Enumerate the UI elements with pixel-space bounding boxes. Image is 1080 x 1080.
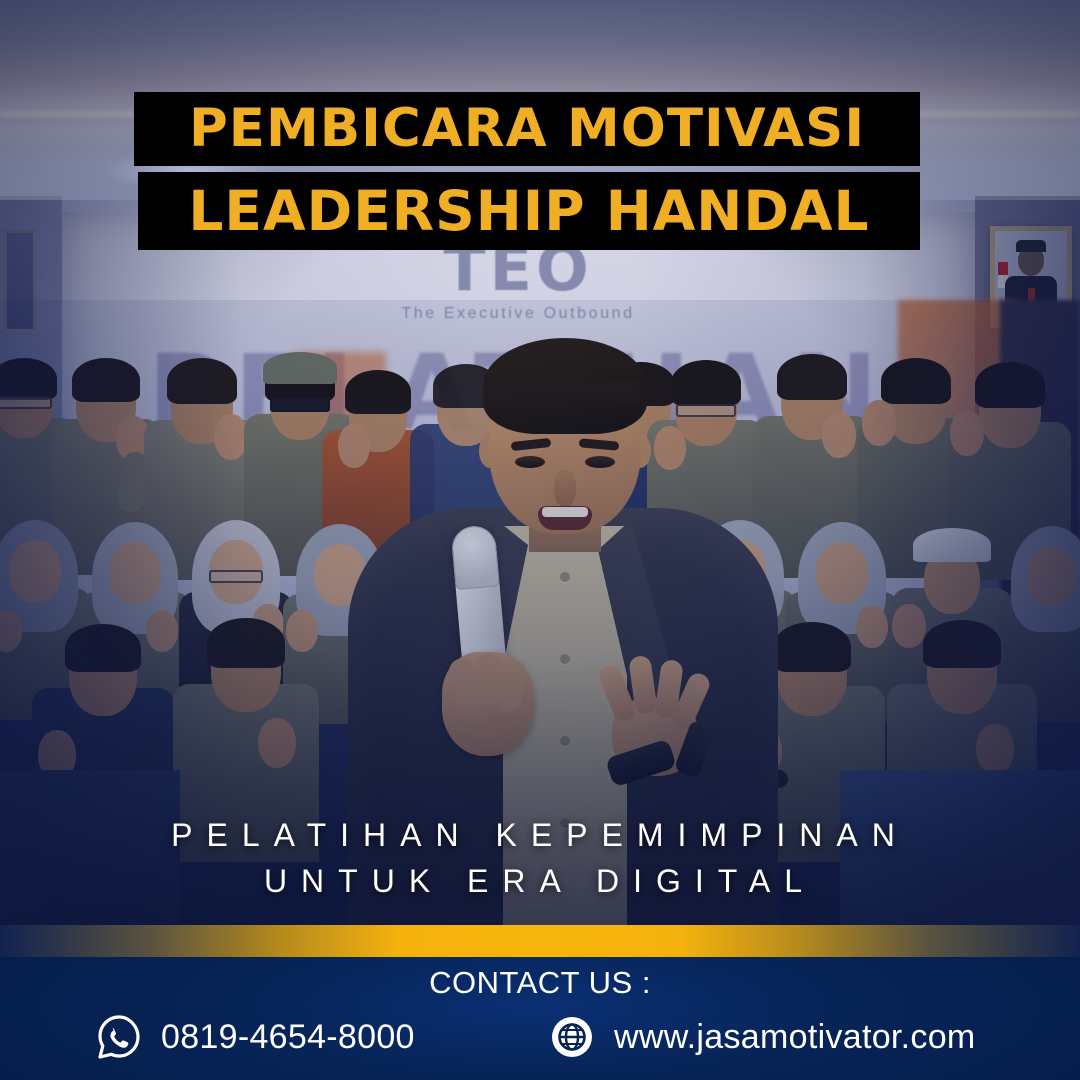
headline-line-1: PEMBICARA MOTIVASI	[134, 92, 920, 166]
contact-item-phone[interactable]: 0819-4654-8000	[95, 1013, 415, 1061]
subtitle: PELATIHAN KEPEMIMPINAN UNTUK ERA DIGITAL	[0, 812, 1080, 904]
subtitle-line-2: UNTUK ERA DIGITAL	[0, 858, 1080, 904]
poster: TEO The Executive Outbound PELATIHAN	[0, 0, 1080, 1080]
gold-divider-bar	[0, 925, 1080, 957]
contact-phone-label: 0819-4654-8000	[161, 1018, 415, 1057]
contact-item-website[interactable]: www.jasamotivator.com	[548, 1013, 976, 1061]
contact-title: CONTACT US :	[0, 955, 1080, 1011]
whatsapp-icon	[95, 1013, 143, 1061]
headline-box-1: PEMBICARA MOTIVASI	[134, 92, 920, 166]
contact-row: 0819-4654-8000 www.jasamotivator.com	[0, 1009, 1080, 1073]
subtitle-line-1: PELATIHAN KEPEMIMPINAN	[0, 812, 1080, 858]
headline-line-2: LEADERSHIP HANDAL	[138, 172, 920, 250]
headline-box-2: LEADERSHIP HANDAL	[138, 172, 920, 250]
globe-icon	[548, 1013, 596, 1061]
contact-website-label: www.jasamotivator.com	[614, 1018, 976, 1057]
contact-panel: CONTACT US : 0819-4654-8000	[0, 957, 1080, 1080]
